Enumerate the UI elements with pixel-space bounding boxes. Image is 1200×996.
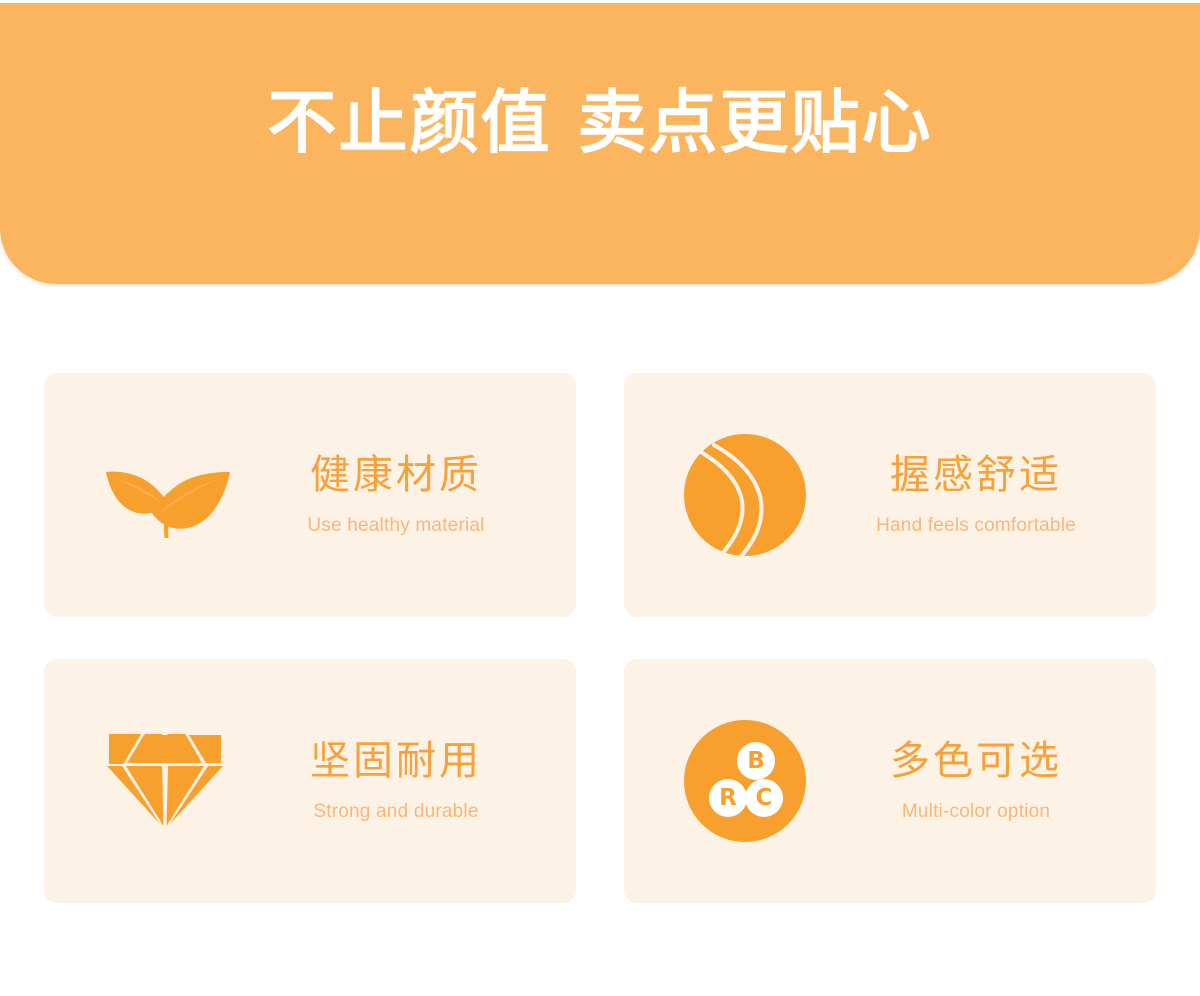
feature-title: 握感舒适	[826, 452, 1126, 498]
color-options-icon: B R C	[670, 706, 820, 856]
feature-card-grid: 健康材质 Use healthy material 握感舒适 Hand feel…	[44, 373, 1156, 903]
feature-title: 坚固耐用	[246, 738, 546, 784]
feature-card-text: 多色可选 Multi-color option	[820, 738, 1156, 824]
feature-subtitle: Strong and durable	[246, 801, 546, 824]
feature-subtitle: Hand feels comfortable	[826, 515, 1126, 538]
feature-card-comfortable-grip[interactable]: 握感舒适 Hand feels comfortable	[624, 373, 1156, 617]
feature-card-strong-durable[interactable]: 坚固耐用 Strong and durable	[44, 659, 576, 903]
grip-ball-icon	[670, 420, 820, 570]
color-letter-r: R	[719, 785, 737, 811]
feature-title: 健康材质	[246, 452, 546, 498]
feature-card-healthy-material[interactable]: 健康材质 Use healthy material	[44, 373, 576, 617]
page-title: 不止颜值 卖点更贴心	[267, 89, 932, 158]
feature-subtitle: Multi-color option	[826, 801, 1126, 824]
diamond-icon	[90, 706, 240, 856]
color-letter-c: C	[756, 785, 773, 811]
color-letter-b: B	[747, 748, 765, 774]
leaf-icon	[90, 420, 240, 570]
feature-card-text: 坚固耐用 Strong and durable	[240, 738, 576, 824]
feature-card-multi-color[interactable]: B R C 多色可选 Multi-color option	[624, 659, 1156, 903]
feature-title: 多色可选	[826, 738, 1126, 784]
feature-card-text: 握感舒适 Hand feels comfortable	[820, 452, 1156, 538]
feature-card-text: 健康材质 Use healthy material	[240, 452, 576, 538]
header-banner: 不止颜值 卖点更贴心	[0, 3, 1200, 284]
feature-subtitle: Use healthy material	[246, 515, 546, 538]
